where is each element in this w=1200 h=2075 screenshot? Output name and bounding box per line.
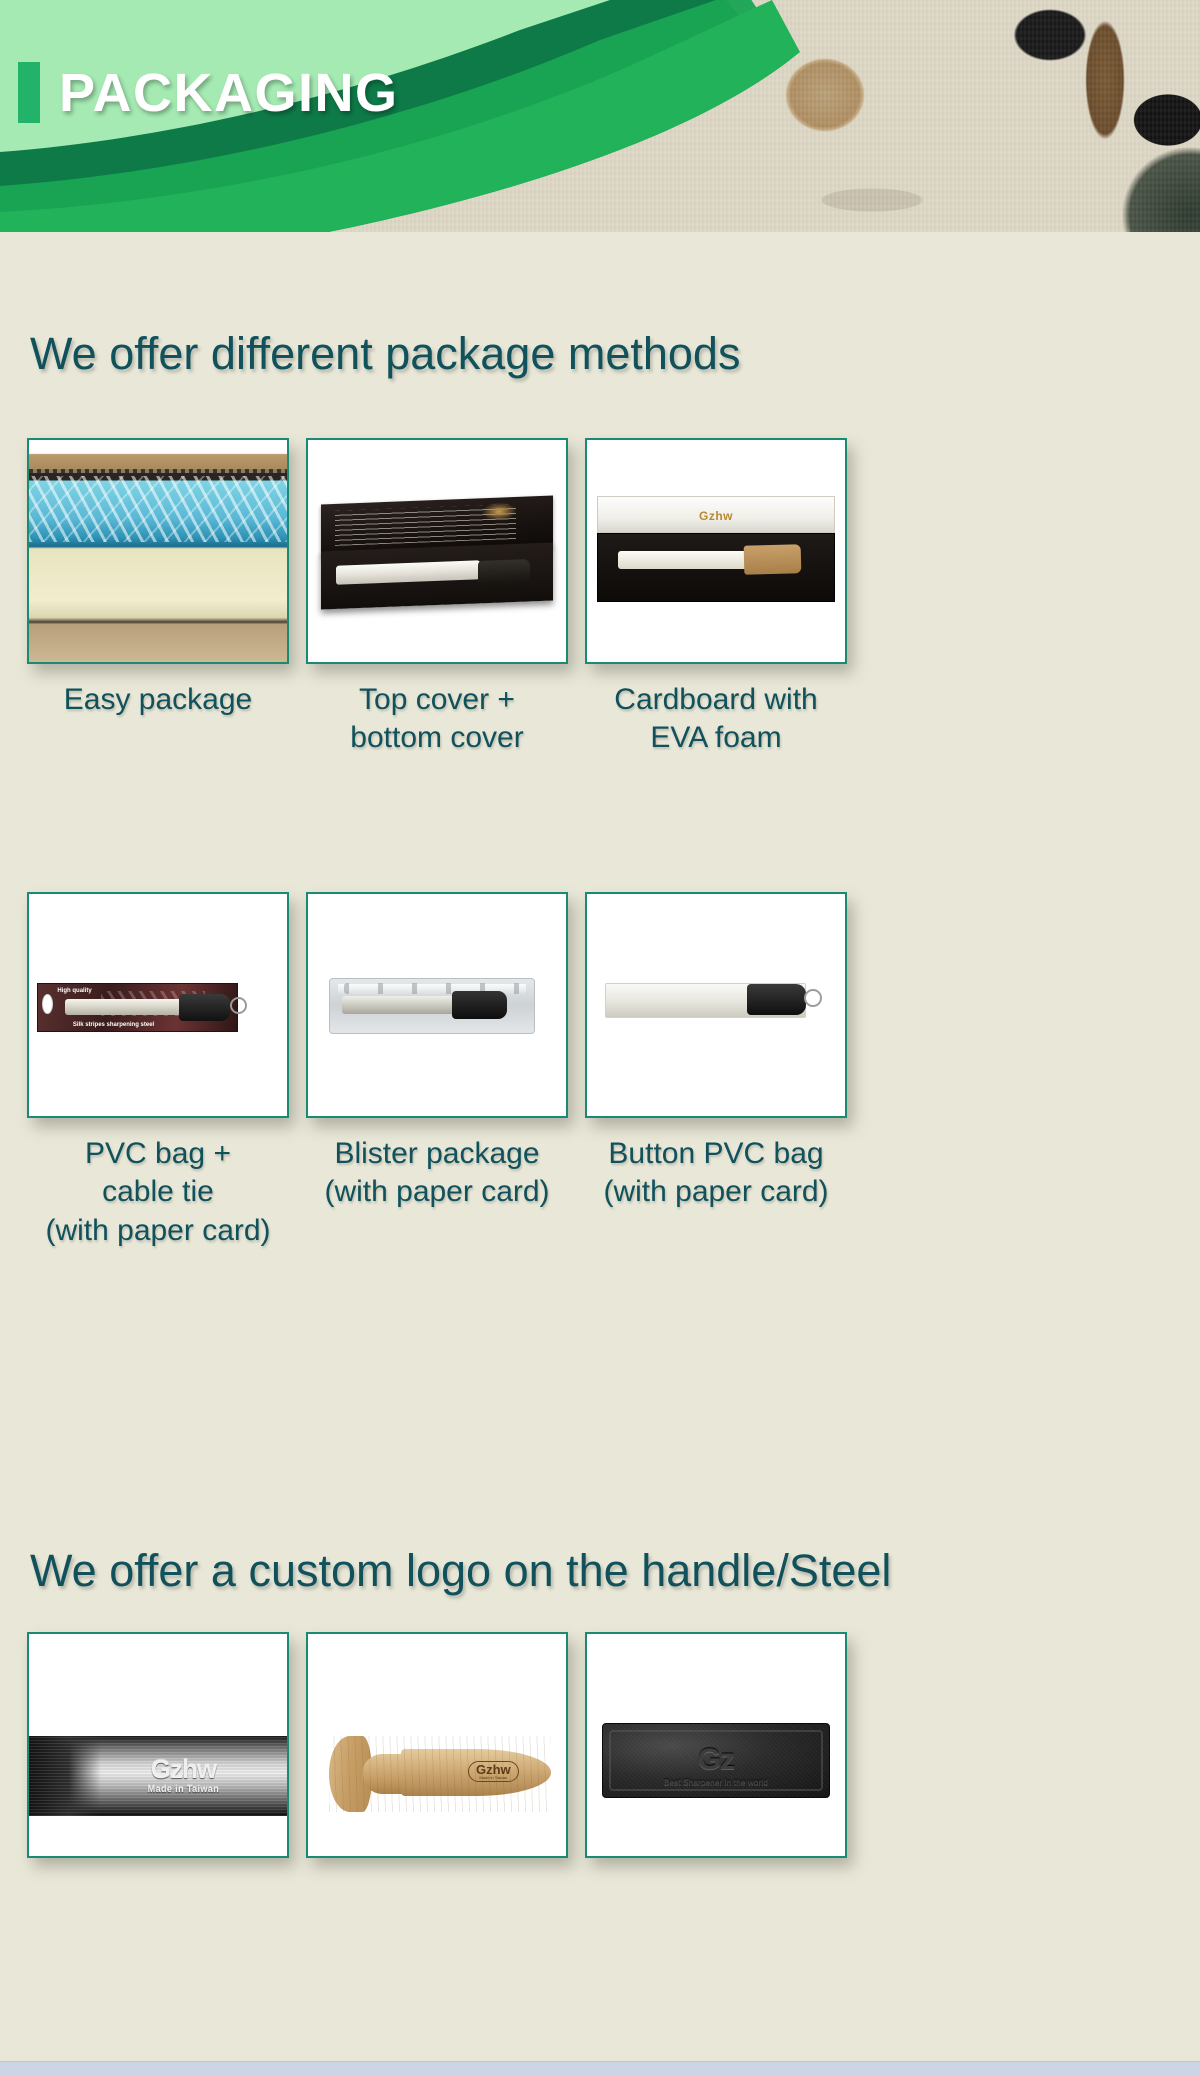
button-pvc-bag-photo xyxy=(587,894,845,1116)
brand-name: Gzhw xyxy=(148,1756,219,1782)
steel-rod-logo-photo: Gzhw Made in Taiwan xyxy=(29,1634,287,1856)
package-image-card[interactable] xyxy=(306,892,568,1118)
package-image-card[interactable] xyxy=(27,438,289,664)
hang-hole xyxy=(42,994,53,1014)
page-banner: PACKAGING xyxy=(0,0,1200,232)
page-title: PACKAGING xyxy=(59,66,399,120)
paper-card-line-1: High quality xyxy=(57,988,91,994)
package-cell-easy-package: Easy package xyxy=(27,438,289,758)
section-heading-packages: We offer different package methods xyxy=(30,330,740,377)
banner-title-group: PACKAGING xyxy=(18,62,399,123)
title-accent-bar xyxy=(18,62,40,123)
steel-handle xyxy=(478,559,530,585)
logo-cell-black-handle: Gz Best Sharpener in the world xyxy=(585,1632,847,1858)
logo-image-card[interactable]: Gz Best Sharpener in the world xyxy=(585,1632,847,1858)
black-handle xyxy=(747,984,806,1015)
sharpening-steel-rod xyxy=(618,551,747,569)
brand-name: Gz xyxy=(587,1745,845,1775)
pvc-bag-photo: High quality Silk stripes sharpening ste… xyxy=(29,894,287,1116)
sharpening-steel-rod xyxy=(65,999,184,1015)
section-heading-custom-logo: We offer a custom logo on the handle/Ste… xyxy=(30,1547,891,1594)
sharpening-steel-rod xyxy=(342,996,458,1014)
black-handle xyxy=(452,991,506,1020)
hanging-ring xyxy=(230,997,247,1014)
eva-box-brand-logo: Gzhw xyxy=(699,509,733,523)
steel-brand-mark: Gzhw Made in Taiwan xyxy=(148,1756,219,1794)
brand-origin: Made in Taiwan xyxy=(148,1784,219,1794)
packaging-page: PACKAGING We offer different package met… xyxy=(0,0,1200,2075)
package-cell-button-pvc-bag: Button PVC bag (with paper card) xyxy=(585,892,847,1250)
package-image-card[interactable]: High quality Silk stripes sharpening ste… xyxy=(27,892,289,1118)
logo-image-card[interactable]: Gzhw Made in Taiwan xyxy=(27,1632,289,1858)
package-caption: Easy package xyxy=(64,681,252,719)
package-caption: PVC bag + cable tie (with paper card) xyxy=(45,1135,270,1250)
custom-logo-row: Gzhw Made in Taiwan Gzhw xyxy=(0,1632,1200,1858)
package-methods-row-1: Easy package Top cover + bottom cover xyxy=(0,438,1200,758)
black-gift-box-photo xyxy=(308,440,566,662)
wooden-handle xyxy=(744,545,801,575)
package-cell-top-bottom-cover: Top cover + bottom cover xyxy=(306,438,568,758)
logo-cell-wooden-handle: Gzhw Made in Taiwan xyxy=(306,1632,568,1858)
logo-cell-steel: Gzhw Made in Taiwan xyxy=(27,1632,289,1858)
package-caption: Cardboard with EVA foam xyxy=(614,681,817,758)
package-caption: Top cover + bottom cover xyxy=(350,681,523,758)
open-carton-photo xyxy=(29,440,287,662)
blister-package-photo xyxy=(308,894,566,1116)
black-handle xyxy=(179,994,231,1021)
wood-brand-mark: Gzhw Made in Taiwan xyxy=(468,1761,519,1783)
package-cell-pvc-bag-cable-tie: High quality Silk stripes sharpening ste… xyxy=(27,892,289,1250)
package-caption: Button PVC bag (with paper card) xyxy=(603,1135,828,1212)
paper-card-line-2: Silk stripes sharpening steel xyxy=(73,1022,154,1028)
brand-origin: Made in Taiwan xyxy=(476,1776,511,1780)
package-image-card[interactable] xyxy=(306,438,568,664)
package-cell-blister-package: Blister package (with paper card) xyxy=(306,892,568,1250)
brand-tagline: Best Sharpener in the world xyxy=(587,1778,845,1787)
eva-foam-box-photo: Gzhw xyxy=(587,440,845,662)
package-image-card[interactable] xyxy=(585,892,847,1118)
logo-image-card[interactable]: Gzhw Made in Taiwan xyxy=(306,1632,568,1858)
package-cell-cardboard-eva: Gzhw Cardboard with EVA foam xyxy=(585,438,847,758)
hanging-ring xyxy=(804,989,822,1007)
package-image-card[interactable]: Gzhw xyxy=(585,438,847,664)
package-methods-row-2: High quality Silk stripes sharpening ste… xyxy=(0,892,1200,1250)
wooden-handle-logo-photo: Gzhw Made in Taiwan xyxy=(308,1634,566,1856)
black-handle-brand-mark: Gz Best Sharpener in the world xyxy=(587,1745,845,1787)
black-handle-logo-photo: Gz Best Sharpener in the world xyxy=(587,1634,845,1856)
package-caption: Blister package (with paper card) xyxy=(324,1135,549,1212)
page-footer-strip xyxy=(0,2061,1200,2075)
